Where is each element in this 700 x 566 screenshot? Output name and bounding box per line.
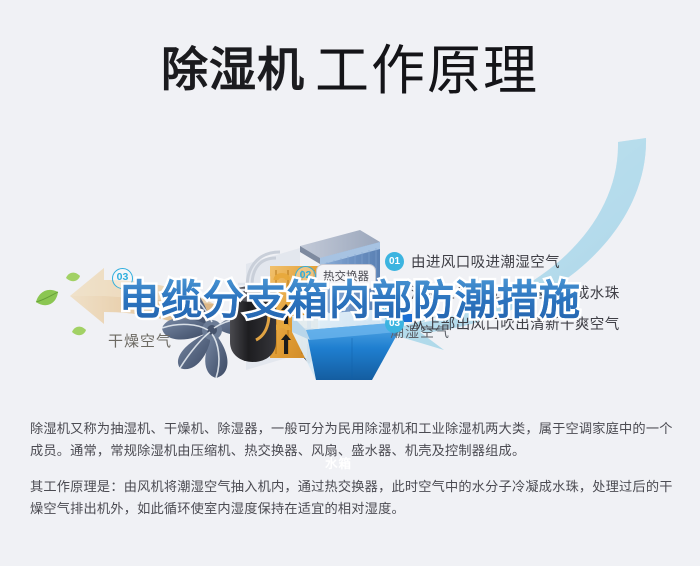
paragraph-2: 其工作原理是：由风机将潮湿空气抽入机内，通过热交换器，此时空气中的水分子冷凝成水… — [30, 476, 675, 520]
watermark-text: 电缆分支箱内部防潮措施 — [0, 266, 700, 326]
page-title-secondary: 工作原理 — [315, 41, 539, 101]
infographic-page: 除湿机工作原理 — [0, 0, 700, 566]
paragraph-1: 除湿机又称为抽湿机、干燥机、除湿器，一般可分为民用除湿机和工业除湿机两大类，属于… — [30, 418, 675, 462]
body-copy: 除湿机又称为抽湿机、干燥机、除湿器，一般可分为民用除湿机和工业除湿机两大类，属于… — [30, 418, 675, 520]
page-title: 除湿机工作原理 — [0, 26, 700, 105]
page-title-primary: 除湿机 — [161, 43, 305, 96]
dry-air-label: 干燥空气 — [108, 330, 172, 351]
